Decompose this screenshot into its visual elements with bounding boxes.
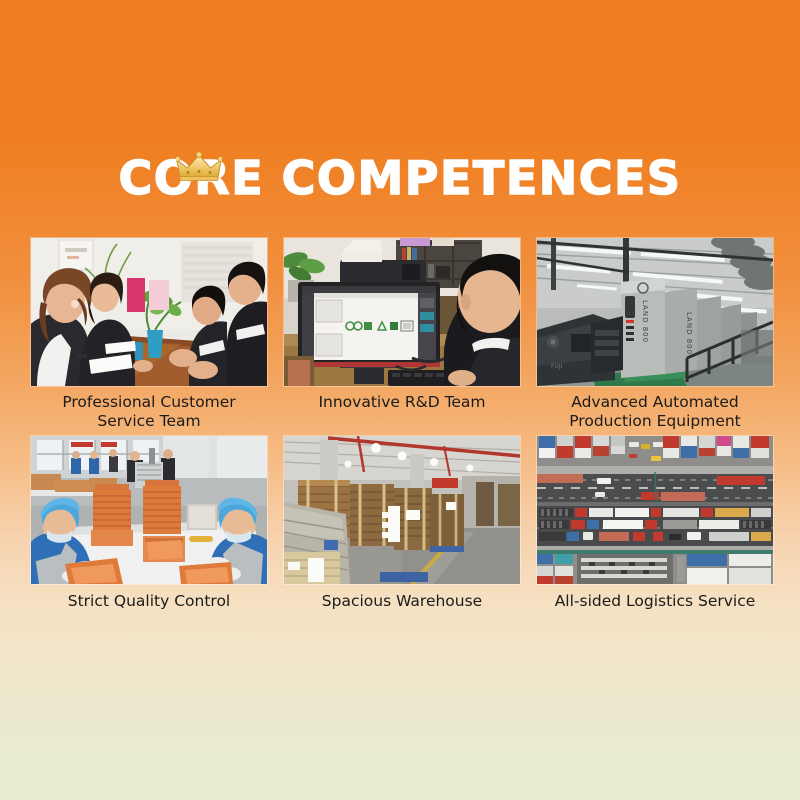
quality-control-photo [31, 436, 267, 584]
competence-grid: Professional Customer Service Team [31, 238, 772, 629]
designer-at-computer-photo [284, 238, 520, 386]
core-competences-banner: CORE COMPETENCES [0, 0, 800, 800]
svg-text:LAND 800: LAND 800 [641, 300, 649, 343]
thumbnail-professional-customer-service-team[interactable] [31, 238, 267, 386]
thumbnail-advanced-automated-production-equipment[interactable]: LAND 800 LAND 800 [537, 238, 773, 386]
competence-card-advanced-automated-production-equipment[interactable]: LAND 800 LAND 800 [537, 238, 773, 431]
svg-text:FUJI: FUJI [551, 363, 563, 370]
meeting-room-photo [31, 238, 267, 386]
caption-all-sided-logistics-service: All-sided Logistics Service [537, 584, 773, 629]
heading-block: CORE COMPETENCES [0, 148, 800, 208]
competence-card-strict-quality-control[interactable]: Strict Quality Control [31, 436, 267, 629]
logistics-aerial-photo [537, 436, 773, 584]
caption-advanced-automated-production-equipment: Advanced Automated Production Equipment [537, 386, 773, 431]
svg-text:LAND 800: LAND 800 [685, 312, 693, 355]
thumbnail-strict-quality-control[interactable] [31, 436, 267, 584]
warehouse-photo [284, 436, 520, 584]
caption-innovative-rd-team: Innovative R&D Team [284, 386, 520, 431]
thumbnail-all-sided-logistics-service[interactable] [537, 436, 773, 584]
thumbnail-spacious-warehouse[interactable] [284, 436, 520, 584]
crown-icon [176, 152, 222, 182]
competence-card-professional-customer-service-team[interactable]: Professional Customer Service Team [31, 238, 267, 431]
competence-card-innovative-rd-team[interactable]: Innovative R&D Team [284, 238, 520, 431]
caption-spacious-warehouse: Spacious Warehouse [284, 584, 520, 629]
caption-strict-quality-control: Strict Quality Control [31, 584, 267, 629]
thumbnail-innovative-rd-team[interactable] [284, 238, 520, 386]
competence-card-all-sided-logistics-service[interactable]: All-sided Logistics Service [537, 436, 773, 629]
printing-press-photo: LAND 800 LAND 800 [537, 238, 773, 386]
caption-professional-customer-service-team: Professional Customer Service Team [31, 386, 267, 431]
competence-card-spacious-warehouse[interactable]: Spacious Warehouse [284, 436, 520, 629]
